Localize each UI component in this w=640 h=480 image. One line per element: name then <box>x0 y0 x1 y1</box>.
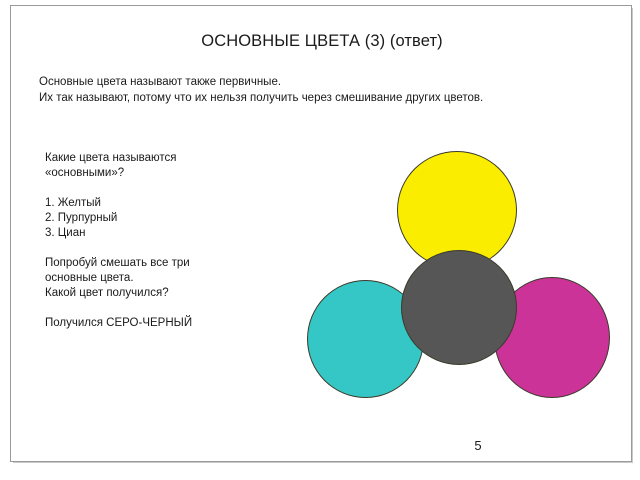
task-line-3: Какой цвет получился? <box>45 286 295 301</box>
page-number: 5 <box>466 438 490 454</box>
body-text-block: Какие цвета называются «основными»? 1. Ж… <box>45 151 295 331</box>
answer-line: Получился СЕРО-ЧЕРНЫЙ <box>45 316 295 331</box>
list-item-1: 1. Желтый <box>45 196 295 211</box>
intro-paragraph: Основные цвета называют также первичные.… <box>39 74 619 106</box>
question-line-2: «основными»? <box>45 166 295 181</box>
spacer <box>45 241 295 256</box>
gray-center-circle <box>401 250 517 365</box>
page-title: ОСНОВНЫЕ ЦВЕТА (3) (ответ) <box>11 31 633 51</box>
task-line-2: основные цвета. <box>45 271 295 286</box>
question-line-1: Какие цвета называются <box>45 151 295 166</box>
task-line-1: Попробуй смешать все три <box>45 256 295 271</box>
intro-line-1: Основные цвета называют также первичные. <box>39 74 619 90</box>
primary-colors-diagram <box>301 146 621 411</box>
intro-line-2: Их так называют, потому что их нельзя по… <box>39 90 619 106</box>
list-item-2: 2. Пурпурный <box>45 211 295 226</box>
slide-canvas: ОСНОВНЫЕ ЦВЕТА (3) (ответ) Основные цвет… <box>10 5 632 462</box>
spacer <box>45 301 295 316</box>
spacer <box>45 181 295 196</box>
list-item-3: 3. Циан <box>45 226 295 241</box>
